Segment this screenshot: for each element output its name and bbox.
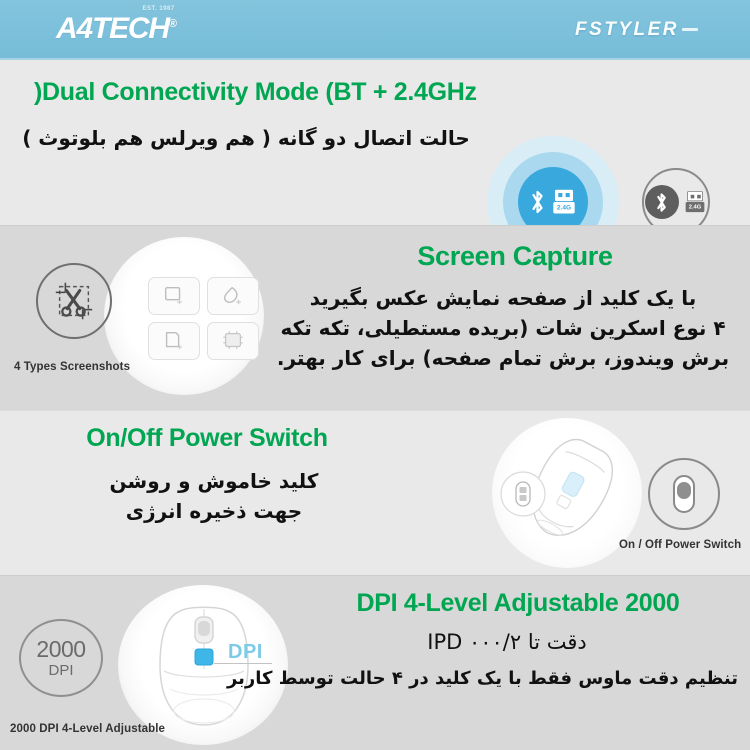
screen-capture-caption: 4 Types Screenshots bbox=[14, 361, 130, 373]
screen-capture-body-line-1: با یک کلید از صفحه نمایش عکس بگیرید bbox=[270, 283, 736, 313]
section-divider-1 bbox=[0, 225, 750, 226]
usb-dongle-gray-band-label: 2.4G bbox=[685, 202, 704, 212]
window-snip-icon[interactable] bbox=[148, 322, 200, 360]
dpi-badge-text: 2000 DPI bbox=[36, 638, 85, 678]
bluetooth-24g-badge: 2.4G bbox=[642, 168, 710, 225]
power-switch-body-line-1: کلید خاموش و روشن bbox=[14, 466, 414, 496]
dpi-value-badge: 2000 DPI bbox=[19, 619, 103, 697]
dpi-callout-label: DPI bbox=[228, 641, 263, 664]
section-power-switch: On / Off Power Switch On/Off Power Switc… bbox=[0, 410, 750, 575]
power-toggle-icon bbox=[648, 458, 720, 530]
dpi-badge-number: 2000 bbox=[36, 638, 85, 661]
usb-dongle-body bbox=[555, 190, 573, 201]
a4tech-logo-text: A4TECH bbox=[56, 12, 169, 45]
dpi-badge-unit: DPI bbox=[36, 663, 85, 678]
power-toggle-knob bbox=[677, 482, 691, 499]
rectangle-snip-icon[interactable] bbox=[148, 277, 200, 315]
dpi-body-line-1: دقت تا ۲/۰۰۰ DPI bbox=[276, 627, 738, 659]
section-screen-capture: 4 Types Screenshots Screen Capture با یک… bbox=[0, 225, 750, 410]
fstyler-logo-accent-bar bbox=[682, 28, 698, 31]
fstyler-logo-text: FSTYLER bbox=[575, 19, 679, 40]
power-switch-caption: On / Off Power Switch bbox=[619, 539, 741, 551]
section-dpi-adjustable: 2000 DPI DPI 2000 DPI 4-Level Adjustable… bbox=[0, 575, 750, 750]
scissors-crop-icon bbox=[36, 263, 112, 339]
power-switch-title: On/Off Power Switch bbox=[14, 424, 400, 453]
dual-connectivity-title: )Dual Connectivity Mode (BT + 2.4GHz bbox=[34, 78, 477, 107]
dpi-title: DPI 4-Level Adjustable 2000 bbox=[300, 589, 736, 618]
bluetooth-disc-icon bbox=[645, 185, 679, 219]
usb-dongle-gray-pin-left bbox=[690, 195, 694, 199]
usb-dongle-pin-left bbox=[558, 193, 562, 197]
screen-capture-body-line-3: برش ویندوز، برش تمام صفحه) برای کار بهتر… bbox=[270, 343, 736, 373]
screen-capture-title: Screen Capture bbox=[300, 241, 730, 272]
dpi-body-line-2: تنظیم دقت ماوس فقط با یک کلید در ۴ حالت … bbox=[276, 665, 738, 692]
section-dual-connectivity: 2.4G 2.4G Bluetooth / 2.4GHz )Dual Conne… bbox=[0, 60, 750, 225]
power-switch-body-line-2: جهت ذخیره انرژی bbox=[14, 496, 414, 526]
usb-dongle-gray-body bbox=[687, 191, 703, 201]
usb-dongle-pin-right bbox=[566, 193, 570, 197]
brand-header: A4TECH® EST. 1987 FSTYLER bbox=[0, 0, 750, 60]
fullscreen-snip-icon[interactable] bbox=[207, 322, 259, 360]
dual-connectivity-body-fa: حالت اتصال دو گانه ( هم ویرلس هم بلوتوث … bbox=[16, 123, 476, 153]
usb-dongle-icon: 2.4G bbox=[553, 190, 574, 215]
bluetooth-icon bbox=[529, 189, 546, 215]
screen-capture-body-line-2: ۴ نوع اسکرین شات (بریده مستطیلی، تکه تکه bbox=[270, 313, 736, 343]
dpi-caption: 2000 DPI 4-Level Adjustable bbox=[10, 723, 165, 735]
fstyler-logo: FSTYLER bbox=[575, 20, 698, 39]
registered-mark: ® bbox=[169, 18, 176, 30]
section-divider-2 bbox=[0, 410, 750, 411]
a4tech-logo: A4TECH® EST. 1987 bbox=[56, 14, 176, 44]
freeform-snip-icon[interactable] bbox=[207, 277, 259, 315]
usb-dongle-gray-icon: 2.4G bbox=[685, 191, 704, 213]
screenshot-type-grid bbox=[148, 277, 259, 360]
section-divider-3 bbox=[0, 575, 750, 576]
usb-dongle-gray-pin-right bbox=[697, 195, 701, 199]
power-toggle-pill bbox=[673, 475, 695, 513]
a4tech-logo-established: EST. 1987 bbox=[143, 6, 175, 12]
usb-dongle-band-label: 2.4G bbox=[553, 202, 574, 213]
infographic-page: A4TECH® EST. 1987 FSTYLER 2.4G bbox=[0, 0, 750, 750]
